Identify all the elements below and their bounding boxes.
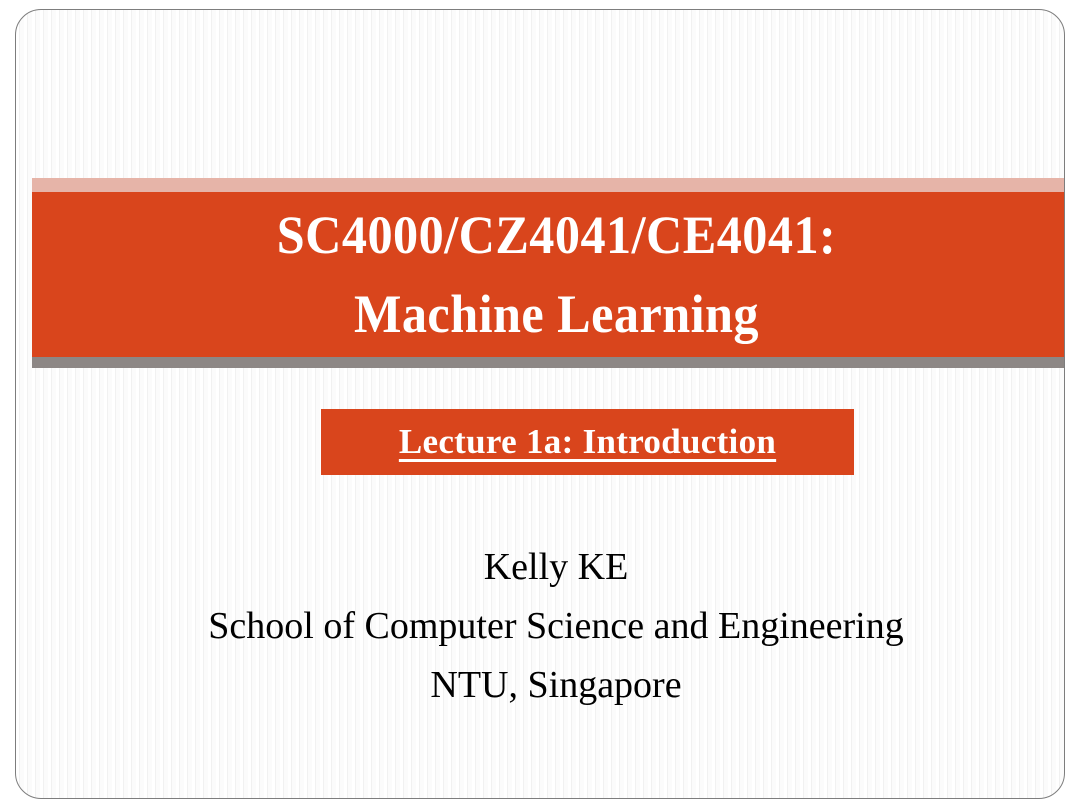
- author-location: NTU, Singapore: [16, 656, 1065, 715]
- author-block: Kelly KE School of Computer Science and …: [16, 538, 1065, 715]
- slide-title-line-2: Machine Learning: [354, 275, 759, 353]
- author-affiliation: School of Computer Science and Engineeri…: [16, 597, 1065, 656]
- lecture-subtitle-box: Lecture 1a: Introduction: [321, 409, 854, 475]
- slide-title-line-1: SC4000/CZ4041/CE4041:: [277, 196, 836, 274]
- slide-title: SC4000/CZ4041/CE4041: Machine Learning: [69, 192, 1045, 357]
- author-name: Kelly KE: [16, 538, 1065, 597]
- slide-frame: SC4000/CZ4041/CE4041: Machine Learning L…: [15, 9, 1065, 799]
- lecture-subtitle-text: Lecture 1a: Introduction: [399, 422, 776, 462]
- banner-top-accent-stripe: [32, 178, 1065, 192]
- presentation-slide: SC4000/CZ4041/CE4041: Machine Learning L…: [0, 0, 1080, 811]
- banner-bottom-accent-stripe: [32, 357, 1065, 368]
- title-banner: SC4000/CZ4041/CE4041: Machine Learning: [32, 178, 1065, 368]
